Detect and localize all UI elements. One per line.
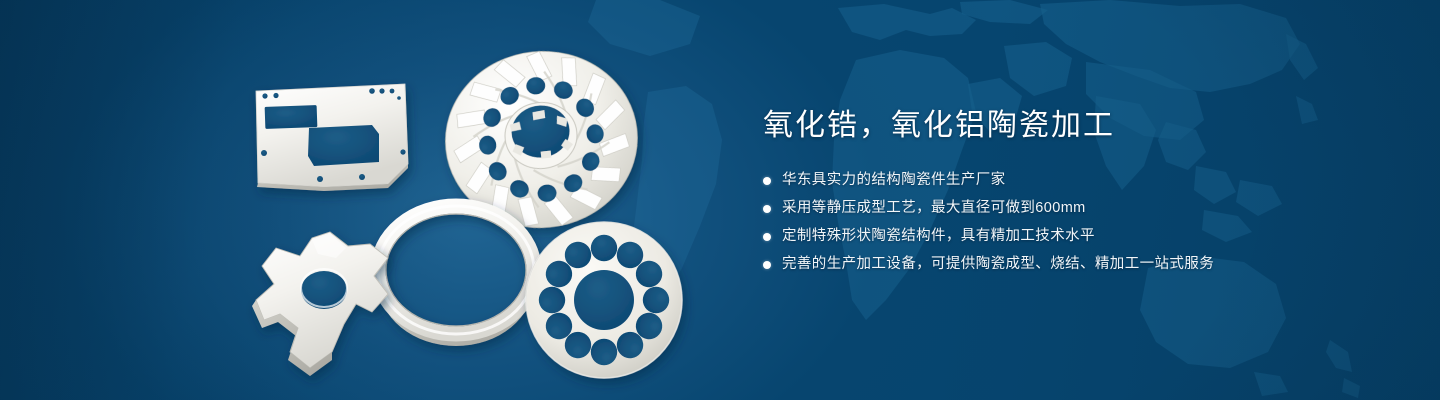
banner-headline: 氧化锆，氧化铝陶瓷加工 bbox=[763, 105, 1363, 147]
banner-copy: 氧化锆，氧化铝陶瓷加工 华东具实力的结构陶瓷件生产厂家 采用等静压成型工艺，最大… bbox=[763, 105, 1363, 281]
feature-text: 采用等静压成型工艺，最大直径可做到600mm bbox=[782, 197, 1086, 220]
promo-banner: 氧化锆，氧化铝陶瓷加工 华东具实力的结构陶瓷件生产厂家 采用等静压成型工艺，最大… bbox=[0, 0, 1440, 400]
feature-item: 定制特殊形状陶瓷结构件，具有精加工技术水平 bbox=[763, 225, 1363, 248]
feature-text: 完善的生产加工设备，可提供陶瓷成型、烧结、精加工一站式服务 bbox=[782, 253, 1214, 276]
ceramic-machined-plate bbox=[256, 84, 408, 191]
feature-item: 采用等静压成型工艺，最大直径可做到600mm bbox=[763, 197, 1363, 220]
bullet-dot-icon bbox=[763, 205, 771, 213]
banner-feature-list: 华东具实力的结构陶瓷件生产厂家 采用等静压成型工艺，最大直径可做到600mm 定… bbox=[763, 169, 1363, 276]
feature-item: 完善的生产加工设备，可提供陶瓷成型、烧结、精加工一站式服务 bbox=[763, 253, 1363, 276]
ceramic-ring bbox=[378, 206, 534, 346]
ceramic-cross-plate bbox=[252, 232, 388, 376]
bullet-dot-icon bbox=[763, 261, 771, 269]
ceramic-hole-flange bbox=[526, 222, 682, 378]
bullet-dot-icon bbox=[763, 233, 771, 241]
ceramic-products-image bbox=[232, 42, 722, 392]
feature-text: 华东具实力的结构陶瓷件生产厂家 bbox=[782, 169, 1006, 192]
feature-item: 华东具实力的结构陶瓷件生产厂家 bbox=[763, 169, 1363, 192]
feature-text: 定制特殊形状陶瓷结构件，具有精加工技术水平 bbox=[782, 225, 1095, 248]
bullet-dot-icon bbox=[763, 177, 771, 185]
